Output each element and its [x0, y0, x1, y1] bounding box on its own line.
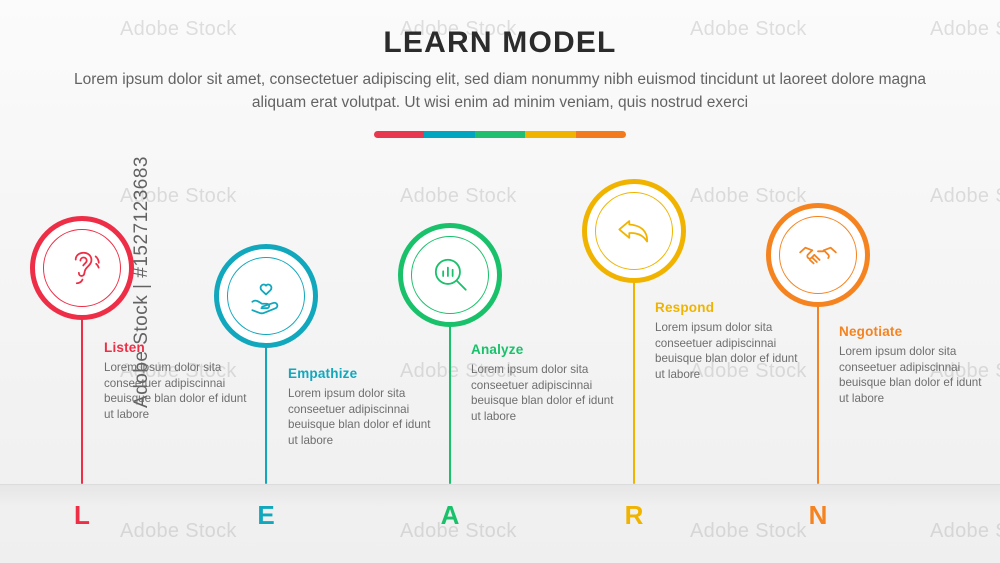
- step-text-block: EmpathizeLorem ipsum dolor sita conseetu…: [288, 366, 440, 448]
- step-label: Analyze: [471, 342, 623, 357]
- step-label: Empathize: [288, 366, 440, 381]
- step-description: Lorem ipsum dolor sita conseetuer adipis…: [471, 362, 623, 424]
- baseline-shadow: [0, 485, 1000, 507]
- watermark-tile: Adobe Stock: [400, 185, 517, 208]
- rainbow-segment-1: [374, 131, 424, 138]
- step-text-block: RespondLorem ipsum dolor sita conseetuer…: [655, 300, 807, 382]
- step-inner-ring: [227, 257, 305, 335]
- step-label: Respond: [655, 300, 807, 315]
- step-letter: N: [798, 500, 838, 531]
- reply-arrow-icon: [596, 193, 672, 269]
- ear-icon: [44, 230, 120, 306]
- page-title: LEARN MODEL: [0, 26, 1000, 60]
- rainbow-segment-3: [475, 131, 525, 138]
- watermark-tile: Adobe Stock: [120, 520, 237, 543]
- step-label: Listen: [104, 340, 256, 355]
- step-label: Negotiate: [839, 324, 991, 339]
- step-description: Lorem ipsum dolor sita conseetuer adipis…: [655, 320, 807, 382]
- step-letter: E: [246, 500, 286, 531]
- step-text-block: NegotiateLorem ipsum dolor sita conseetu…: [839, 324, 991, 406]
- step-letter: L: [62, 500, 102, 531]
- step-connector-line: [449, 323, 451, 484]
- watermark-tile: Adobe Stock: [930, 185, 1000, 208]
- infographic-canvas: Adobe StockAdobe StockAdobe StockAdobe S…: [0, 0, 1000, 563]
- step-outer-ring: [214, 244, 318, 348]
- step-inner-ring: [43, 229, 121, 307]
- watermark-tile: Adobe Stock: [930, 520, 1000, 543]
- step-connector-line: [633, 279, 635, 484]
- step-connector-line: [265, 344, 267, 484]
- heart-in-hand-icon: [228, 258, 304, 334]
- magnifier-chart-icon: [412, 237, 488, 313]
- step-outer-ring: [30, 216, 134, 320]
- rainbow-segment-4: [525, 131, 575, 138]
- rainbow-divider: [374, 131, 626, 138]
- step-text-block: ListenLorem ipsum dolor sita conseetuer …: [104, 340, 256, 422]
- step-outer-ring: [582, 179, 686, 283]
- step-outer-ring: [766, 203, 870, 307]
- step-description: Lorem ipsum dolor sita conseetuer adipis…: [288, 386, 440, 448]
- rainbow-segment-2: [424, 131, 474, 138]
- watermark-tile: Adobe Stock: [690, 520, 807, 543]
- step-inner-ring: [779, 216, 857, 294]
- rainbow-segment-5: [576, 131, 626, 138]
- step-connector-line: [817, 303, 819, 484]
- step-letter: A: [430, 500, 470, 531]
- step-description: Lorem ipsum dolor sita conseetuer adipis…: [839, 344, 991, 406]
- step-text-block: AnalyzeLorem ipsum dolor sita conseetuer…: [471, 342, 623, 424]
- step-letter: R: [614, 500, 654, 531]
- step-inner-ring: [411, 236, 489, 314]
- handshake-icon: [780, 217, 856, 293]
- step-outer-ring: [398, 223, 502, 327]
- watermark-tile: Adobe Stock: [690, 185, 807, 208]
- step-connector-line: [81, 316, 83, 484]
- step-inner-ring: [595, 192, 673, 270]
- page-subtitle: Lorem ipsum dolor sit amet, consectetuer…: [50, 68, 950, 114]
- step-description: Lorem ipsum dolor sita conseetuer adipis…: [104, 360, 256, 422]
